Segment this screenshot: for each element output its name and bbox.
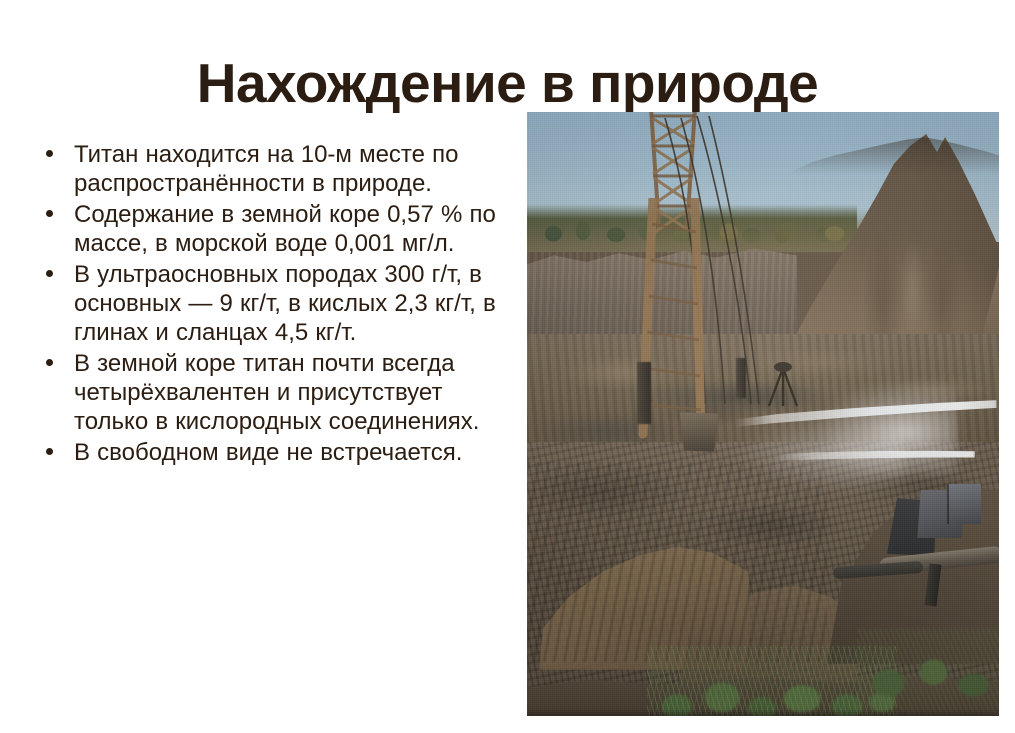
list-item-text: Титан находится на 10-м месте по распрос… — [74, 140, 514, 198]
grass-clump-right — [857, 628, 999, 716]
list-item: Содержание в земной коре 0,57 % по массе… — [36, 200, 514, 258]
hydraulic-monitor-cab — [947, 484, 981, 524]
list-item-text: В земной коре титан почти всегда четырёх… — [74, 349, 514, 436]
bullet-list: Титан находится на 10-м месте по распрос… — [36, 140, 514, 469]
list-item-text: Содержание в земной коре 0,57 % по массе… — [74, 200, 514, 258]
bullet-marker-icon — [36, 200, 74, 229]
survey-tripod — [763, 360, 803, 408]
dragline-bucket — [677, 412, 721, 452]
bullet-marker-icon — [36, 349, 74, 378]
slide: Нахождение в природе Титан находится на … — [0, 0, 1015, 733]
quarry-photo — [527, 112, 999, 716]
support-post-left — [637, 362, 651, 424]
list-item: Титан находится на 10-м месте по распрос… — [36, 140, 514, 198]
bullet-marker-icon — [36, 438, 74, 467]
support-post-right — [736, 358, 746, 398]
dragline-boom-legs — [623, 198, 733, 498]
list-item: В земной коре титан почти всегда четырёх… — [36, 349, 514, 436]
list-item: В ультраосновных породах 300 г/т, в осно… — [36, 260, 514, 347]
bullet-marker-icon — [36, 260, 74, 289]
page-title: Нахождение в природе — [0, 51, 1015, 115]
list-item: В свободном виде не встречается. — [36, 438, 514, 467]
list-item-text: В ультраосновных породах 300 г/т, в осно… — [74, 260, 514, 347]
bullet-marker-icon — [36, 140, 74, 169]
list-item-text: В свободном виде не встречается. — [74, 438, 514, 467]
photo-stage — [527, 112, 999, 716]
foreground-shadow — [527, 712, 999, 716]
